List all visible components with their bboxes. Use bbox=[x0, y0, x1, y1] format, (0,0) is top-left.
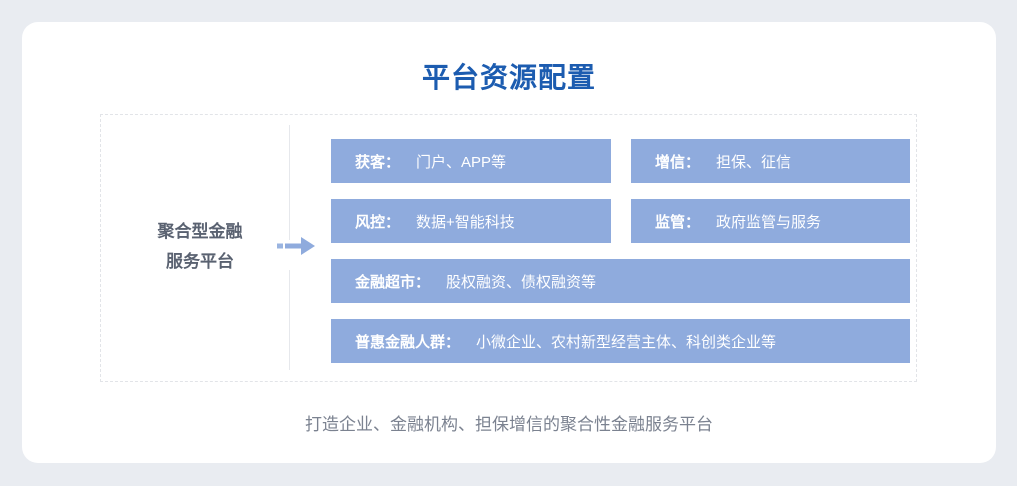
item-key: 金融超市： bbox=[355, 271, 430, 292]
item-key: 监管： bbox=[655, 211, 700, 232]
arrow-right-icon bbox=[277, 233, 317, 259]
item-box-supervision[interactable]: 监管： 政府监管与服务 bbox=[631, 199, 910, 243]
vertical-divider-bottom bbox=[289, 270, 290, 370]
item-box-acquisition[interactable]: 获客： 门户、APP等 bbox=[331, 139, 611, 183]
item-box-credit-enhancement[interactable]: 增信： 担保、征信 bbox=[631, 139, 910, 183]
item-value: 小微企业、农村新型经营主体、科创类企业等 bbox=[476, 331, 776, 352]
item-box-risk-control[interactable]: 风控： 数据+智能科技 bbox=[331, 199, 611, 243]
item-value: 担保、征信 bbox=[716, 151, 791, 172]
item-key: 普惠金融人群： bbox=[355, 331, 460, 352]
page-title: 平台资源配置 bbox=[22, 56, 996, 96]
source-label-line2: 服务平台 bbox=[125, 247, 275, 277]
footer-caption: 打造企业、金融机构、担保增信的聚合性金融服务平台 bbox=[22, 410, 996, 435]
item-key: 获客： bbox=[355, 151, 400, 172]
item-box-financial-supermarket[interactable]: 金融超市： 股权融资、债权融资等 bbox=[331, 259, 910, 303]
slide-card: 平台资源配置 聚合型金融 服务平台 获客： 门户、APP等 增信： 担保、征信 … bbox=[22, 22, 996, 463]
item-key: 风控： bbox=[355, 211, 400, 232]
diagram-container: 聚合型金融 服务平台 获客： 门户、APP等 增信： 担保、征信 风控： 数据+… bbox=[100, 114, 917, 382]
item-value: 门户、APP等 bbox=[416, 151, 506, 172]
item-key: 增信： bbox=[655, 151, 700, 172]
source-label-line1: 聚合型金融 bbox=[125, 217, 275, 247]
item-value: 股权融资、债权融资等 bbox=[446, 271, 596, 292]
vertical-divider-top bbox=[289, 125, 290, 240]
item-value: 数据+智能科技 bbox=[416, 211, 515, 232]
item-value: 政府监管与服务 bbox=[716, 211, 821, 232]
item-box-inclusive-finance-groups[interactable]: 普惠金融人群： 小微企业、农村新型经营主体、科创类企业等 bbox=[331, 319, 910, 363]
source-label: 聚合型金融 服务平台 bbox=[125, 217, 275, 277]
